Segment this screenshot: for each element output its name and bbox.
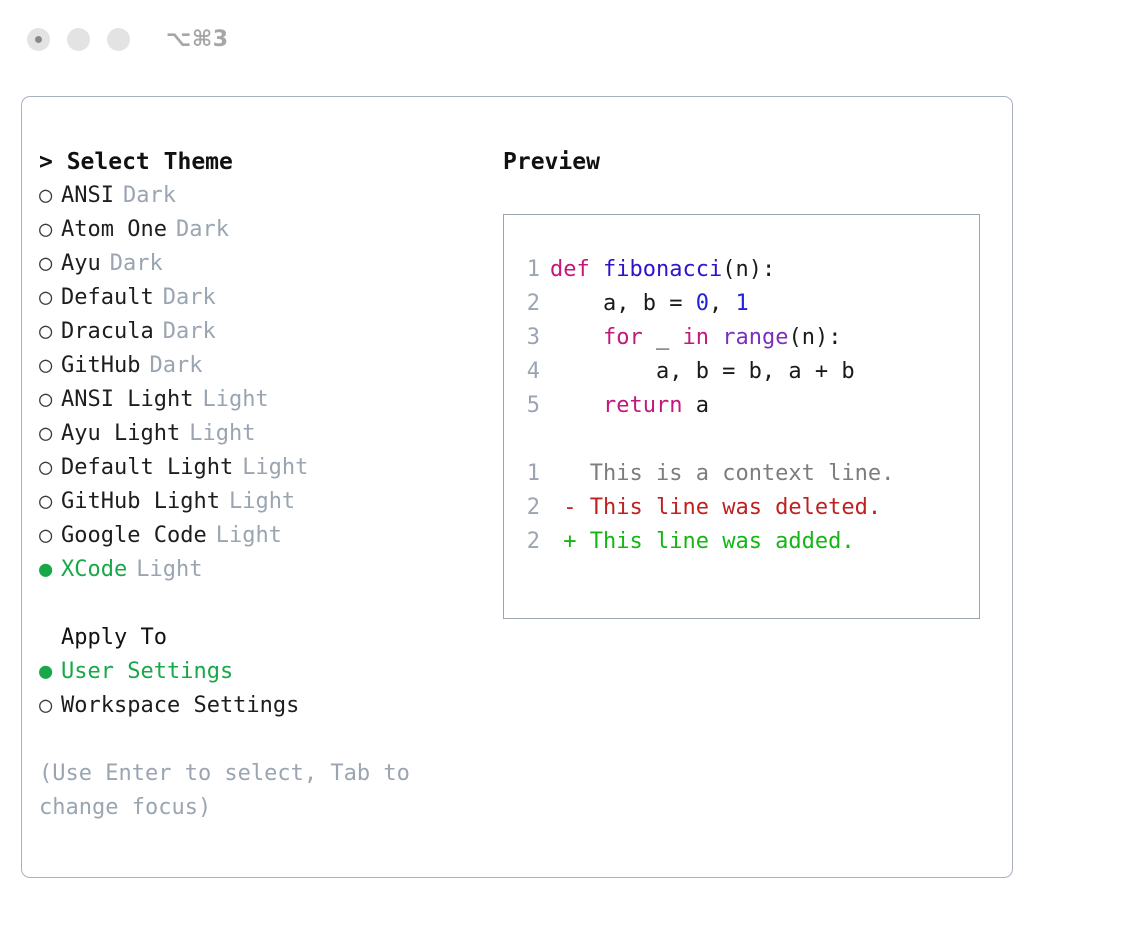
code-line: 3 for _ in range(n): — [504, 321, 979, 355]
diff-line-number: 2 — [504, 491, 550, 525]
code-token-txt — [550, 325, 603, 350]
theme-option-label: GitHub Light — [61, 485, 220, 519]
code-token-kw: in — [682, 325, 709, 350]
diff-sign — [550, 461, 590, 486]
theme-option-variant: Light — [136, 553, 202, 587]
code-token-txt: (n): — [722, 257, 775, 282]
theme-option-atom-one[interactable]: ○Atom OneDark — [39, 213, 487, 247]
theme-option-variant: Light — [189, 417, 255, 451]
radio-unselected-icon: ○ — [39, 689, 61, 723]
diff-line-del: 2 - This line was deleted. — [504, 491, 979, 525]
radio-unselected-icon: ○ — [39, 247, 61, 281]
theme-option-dracula[interactable]: ○DraculaDark — [39, 315, 487, 349]
diff-sign: + — [550, 529, 590, 554]
preview-box: 1def fibonacci(n):2 a, b = 0, 13 for _ i… — [503, 214, 980, 619]
theme-option-variant: Dark — [176, 213, 229, 247]
diff-sign: - — [550, 495, 590, 520]
diff-text: This is a context line. — [590, 461, 895, 486]
radio-selected-icon: ● — [39, 553, 61, 587]
code-line-content: def fibonacci(n): — [550, 253, 775, 287]
code-token-num: 1 — [735, 291, 748, 316]
radio-unselected-icon: ○ — [39, 349, 61, 383]
diff-sample: 1 This is a context line.2 - This line w… — [504, 457, 979, 559]
theme-option-xcode[interactable]: ●XCodeLight — [39, 553, 487, 587]
code-token-num: 0 — [696, 291, 709, 316]
theme-option-label: XCode — [61, 553, 127, 587]
preview-heading: Preview — [503, 145, 1012, 179]
theme-option-google-code[interactable]: ○Google CodeLight — [39, 519, 487, 553]
theme-option-variant: Light — [202, 383, 268, 417]
diff-line-content: + This line was added. — [550, 525, 855, 559]
code-token-kw: for — [603, 325, 643, 350]
code-token-txt: a — [682, 393, 709, 418]
code-token-txt — [550, 393, 603, 418]
diff-line-ctx: 1 This is a context line. — [504, 457, 979, 491]
code-spacer — [504, 423, 979, 457]
theme-option-github-light[interactable]: ○GitHub LightLight — [39, 485, 487, 519]
theme-option-variant: Light — [216, 519, 282, 553]
radio-unselected-icon: ○ — [39, 179, 61, 213]
code-line-number: 2 — [504, 287, 550, 321]
theme-option-variant: Light — [229, 485, 295, 519]
code-line-number: 3 — [504, 321, 550, 355]
code-line-content: a, b = b, a + b — [550, 355, 855, 389]
code-line: 4 a, b = b, a + b — [504, 355, 979, 389]
select-theme-heading: > Select Theme — [39, 145, 487, 179]
code-token-kw: return — [603, 393, 682, 418]
theme-option-variant: Dark — [163, 315, 216, 349]
code-line-number: 1 — [504, 253, 550, 287]
code-token-txt: , — [709, 291, 736, 316]
radio-unselected-icon: ○ — [39, 417, 61, 451]
code-token-txt: a, b = b, a + b — [550, 359, 855, 384]
code-line-content: return a — [550, 389, 709, 423]
theme-option-variant: Dark — [149, 349, 202, 383]
radio-unselected-icon: ○ — [39, 451, 61, 485]
traffic-light-maximize-icon[interactable] — [107, 28, 130, 51]
code-line: 2 a, b = 0, 1 — [504, 287, 979, 321]
code-sample: 1def fibonacci(n):2 a, b = 0, 13 for _ i… — [504, 253, 979, 423]
theme-option-label: Google Code — [61, 519, 207, 553]
apply-to-heading: Apply To — [61, 621, 487, 655]
traffic-light-minimize-icon[interactable] — [67, 28, 90, 51]
theme-option-github[interactable]: ○GitHubDark — [39, 349, 487, 383]
theme-option-label: Default Light — [61, 451, 233, 485]
window-titlebar: ⌥⌘3 — [0, 0, 1140, 78]
theme-option-variant: Dark — [110, 247, 163, 281]
window-title: ⌥⌘3 — [166, 27, 229, 52]
theme-option-variant: Light — [242, 451, 308, 485]
theme-option-ansi[interactable]: ○ANSIDark — [39, 179, 487, 213]
apply-to-option-workspace-settings[interactable]: ○Workspace Settings — [39, 689, 487, 723]
theme-option-default[interactable]: ○DefaultDark — [39, 281, 487, 315]
theme-option-ansi-light[interactable]: ○ANSI LightLight — [39, 383, 487, 417]
theme-option-label: Ayu Light — [61, 417, 180, 451]
theme-option-label: Default — [61, 281, 154, 315]
theme-option-label: Atom One — [61, 213, 167, 247]
theme-option-variant: Dark — [123, 179, 176, 213]
theme-option-ayu-light[interactable]: ○Ayu LightLight — [39, 417, 487, 451]
radio-selected-icon: ● — [39, 655, 61, 689]
preview-column: Preview 1def fibonacci(n):2 a, b = 0, 13… — [487, 97, 1012, 877]
apply-to-option-label: User Settings — [61, 655, 233, 689]
code-token-txt: _ — [643, 325, 683, 350]
theme-option-list: ○ANSIDark○Atom OneDark○AyuDark○DefaultDa… — [39, 179, 487, 587]
theme-option-label: ANSI Light — [61, 383, 193, 417]
main-panel: > Select Theme ○ANSIDark○Atom OneDark○Ay… — [21, 96, 1013, 878]
radio-unselected-icon: ○ — [39, 519, 61, 553]
diff-text: This line was added. — [590, 529, 855, 554]
theme-option-label: Ayu — [61, 247, 101, 281]
code-token-txt: a, b = — [550, 291, 696, 316]
code-line-content: a, b = 0, 1 — [550, 287, 749, 321]
app-window: ⌥⌘3 > Select Theme ○ANSIDark○Atom OneDar… — [0, 0, 1140, 934]
diff-line-content: - This line was deleted. — [550, 491, 881, 525]
radio-unselected-icon: ○ — [39, 315, 61, 349]
radio-unselected-icon: ○ — [39, 281, 61, 315]
code-token-fn: fibonacci — [603, 257, 722, 282]
theme-option-variant: Dark — [163, 281, 216, 315]
theme-selector-column: > Select Theme ○ANSIDark○Atom OneDark○Ay… — [22, 97, 487, 877]
code-line: 1def fibonacci(n): — [504, 253, 979, 287]
diff-line-number: 2 — [504, 525, 550, 559]
theme-option-label: Dracula — [61, 315, 154, 349]
help-hint-text: (Use Enter to select, Tab to change focu… — [39, 757, 444, 825]
theme-option-label: GitHub — [61, 349, 140, 383]
apply-to-list: ●User Settings○Workspace Settings — [39, 655, 487, 723]
code-token-kw: def — [550, 257, 590, 282]
code-token-txt: (n): — [788, 325, 841, 350]
theme-option-label: ANSI — [61, 179, 114, 213]
apply-to-option-label: Workspace Settings — [61, 689, 299, 723]
code-token-call: range — [722, 325, 788, 350]
diff-line-content: This is a context line. — [550, 457, 894, 491]
traffic-light-close-icon[interactable] — [27, 28, 50, 51]
apply-to-option-user-settings[interactable]: ●User Settings — [39, 655, 487, 689]
theme-option-ayu[interactable]: ○AyuDark — [39, 247, 487, 281]
code-line-content: for _ in range(n): — [550, 321, 841, 355]
code-line-number: 4 — [504, 355, 550, 389]
radio-unselected-icon: ○ — [39, 485, 61, 519]
code-token-txt — [709, 325, 722, 350]
diff-line-number: 1 — [504, 457, 550, 491]
code-line-number: 5 — [504, 389, 550, 423]
code-token-txt — [590, 257, 603, 282]
diff-line-add: 2 + This line was added. — [504, 525, 979, 559]
code-line: 5 return a — [504, 389, 979, 423]
radio-unselected-icon: ○ — [39, 383, 61, 417]
traffic-lights — [27, 28, 130, 51]
diff-text: This line was deleted. — [590, 495, 881, 520]
radio-unselected-icon: ○ — [39, 213, 61, 247]
theme-option-default-light[interactable]: ○Default LightLight — [39, 451, 487, 485]
